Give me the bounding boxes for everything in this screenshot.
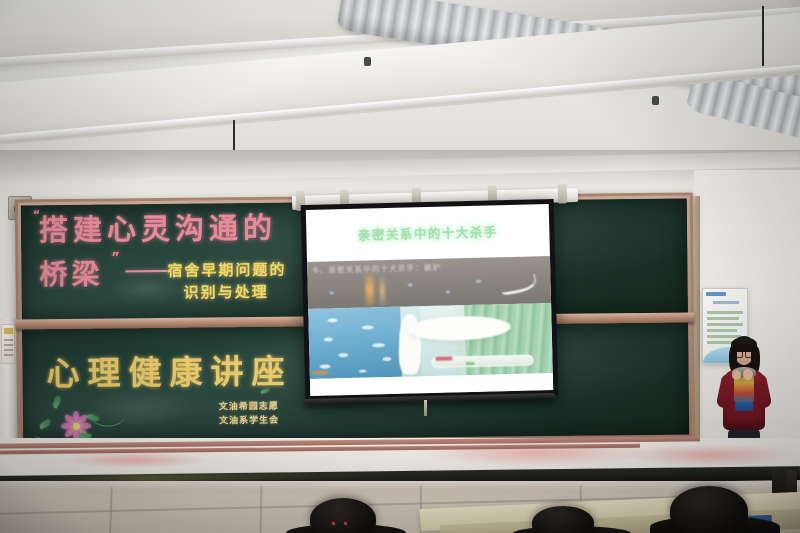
slide-speck [446, 291, 450, 294]
audience-head [670, 486, 748, 533]
slide-light-streak [365, 270, 374, 307]
small-notice-line [4, 344, 13, 346]
sprinkler-icon [364, 57, 371, 66]
slide-light-streak [379, 274, 385, 307]
chalk-headline-line2: 桥梁 [39, 253, 103, 294]
floor-highlight [0, 481, 800, 490]
hair-clip-icon [344, 522, 347, 525]
lecture-hall-photo: “ 搭建心灵沟通的 桥梁 ” 宿舍早期问题的 识别与处理 心理健康讲座 文油希园… [0, 0, 800, 533]
slide-swoosh [500, 274, 538, 296]
small-notice-line [4, 349, 13, 351]
slide-subtitle: 6、亲密关系中的十大杀手：嫉妒 [313, 262, 441, 276]
small-notice-board [1, 324, 15, 364]
slide-speck [408, 283, 413, 286]
chalk-headline-line1: 搭建心灵沟通的 [39, 205, 277, 249]
notice-header-bar [706, 292, 726, 296]
notice-text-line [707, 323, 743, 326]
illustration-fleck [338, 353, 348, 357]
chalk-lecture-headline: 心理健康讲座 [46, 345, 292, 396]
hanger-rod [762, 6, 764, 66]
screen-bracket [558, 183, 568, 203]
small-notice-line [4, 339, 13, 341]
hair-clip-icon [332, 522, 335, 525]
slide-title: 亲密关系中的十大杀手 [306, 220, 549, 245]
presenter-hand-right [743, 369, 753, 380]
illustration-accent-green [465, 362, 475, 366]
notice-text-line [707, 329, 737, 332]
audience-head [532, 506, 594, 533]
illustration-accent-red [436, 357, 453, 361]
small-notice-header [4, 328, 13, 334]
floor-tile-line [260, 485, 262, 533]
wall-stain [60, 452, 210, 468]
chalk-subject-line2: 识别与处理 [184, 281, 269, 303]
notice-title-bar [713, 301, 739, 304]
projection-screen: 亲密关系中的十大杀手 6、亲密关系中的十大杀手：嫉妒 [301, 199, 559, 401]
presenter-inner-shirt [735, 402, 753, 411]
chalk-quote-close: ” [111, 250, 120, 265]
projected-slide: 亲密关系中的十大杀手 6、亲密关系中的十大杀手：嫉妒 [306, 204, 553, 396]
slide-speck [476, 280, 482, 283]
presenter-hand-left [732, 370, 741, 380]
notice-text-line [707, 317, 739, 320]
projector-screen-pull-handle[interactable] [424, 400, 427, 416]
small-notice-line [4, 354, 13, 356]
chalk-signature-line1: 文油希园志愿 [219, 399, 279, 413]
slide-illustration [308, 303, 553, 379]
ceiling [0, 0, 800, 175]
slide-speck [330, 291, 334, 294]
chalk-signature-line2: 文油系学生会 [219, 413, 279, 427]
slide-image-band: 6、亲密关系中的十大杀手：嫉妒 [307, 256, 551, 309]
sprinkler-icon [652, 96, 659, 105]
chalk-subject-line1: 宿舍早期问题的 [167, 259, 286, 281]
notice-text-line [707, 311, 743, 314]
audience-head [310, 498, 376, 533]
illustration-fleck [358, 369, 366, 372]
wall-stain [620, 444, 800, 466]
